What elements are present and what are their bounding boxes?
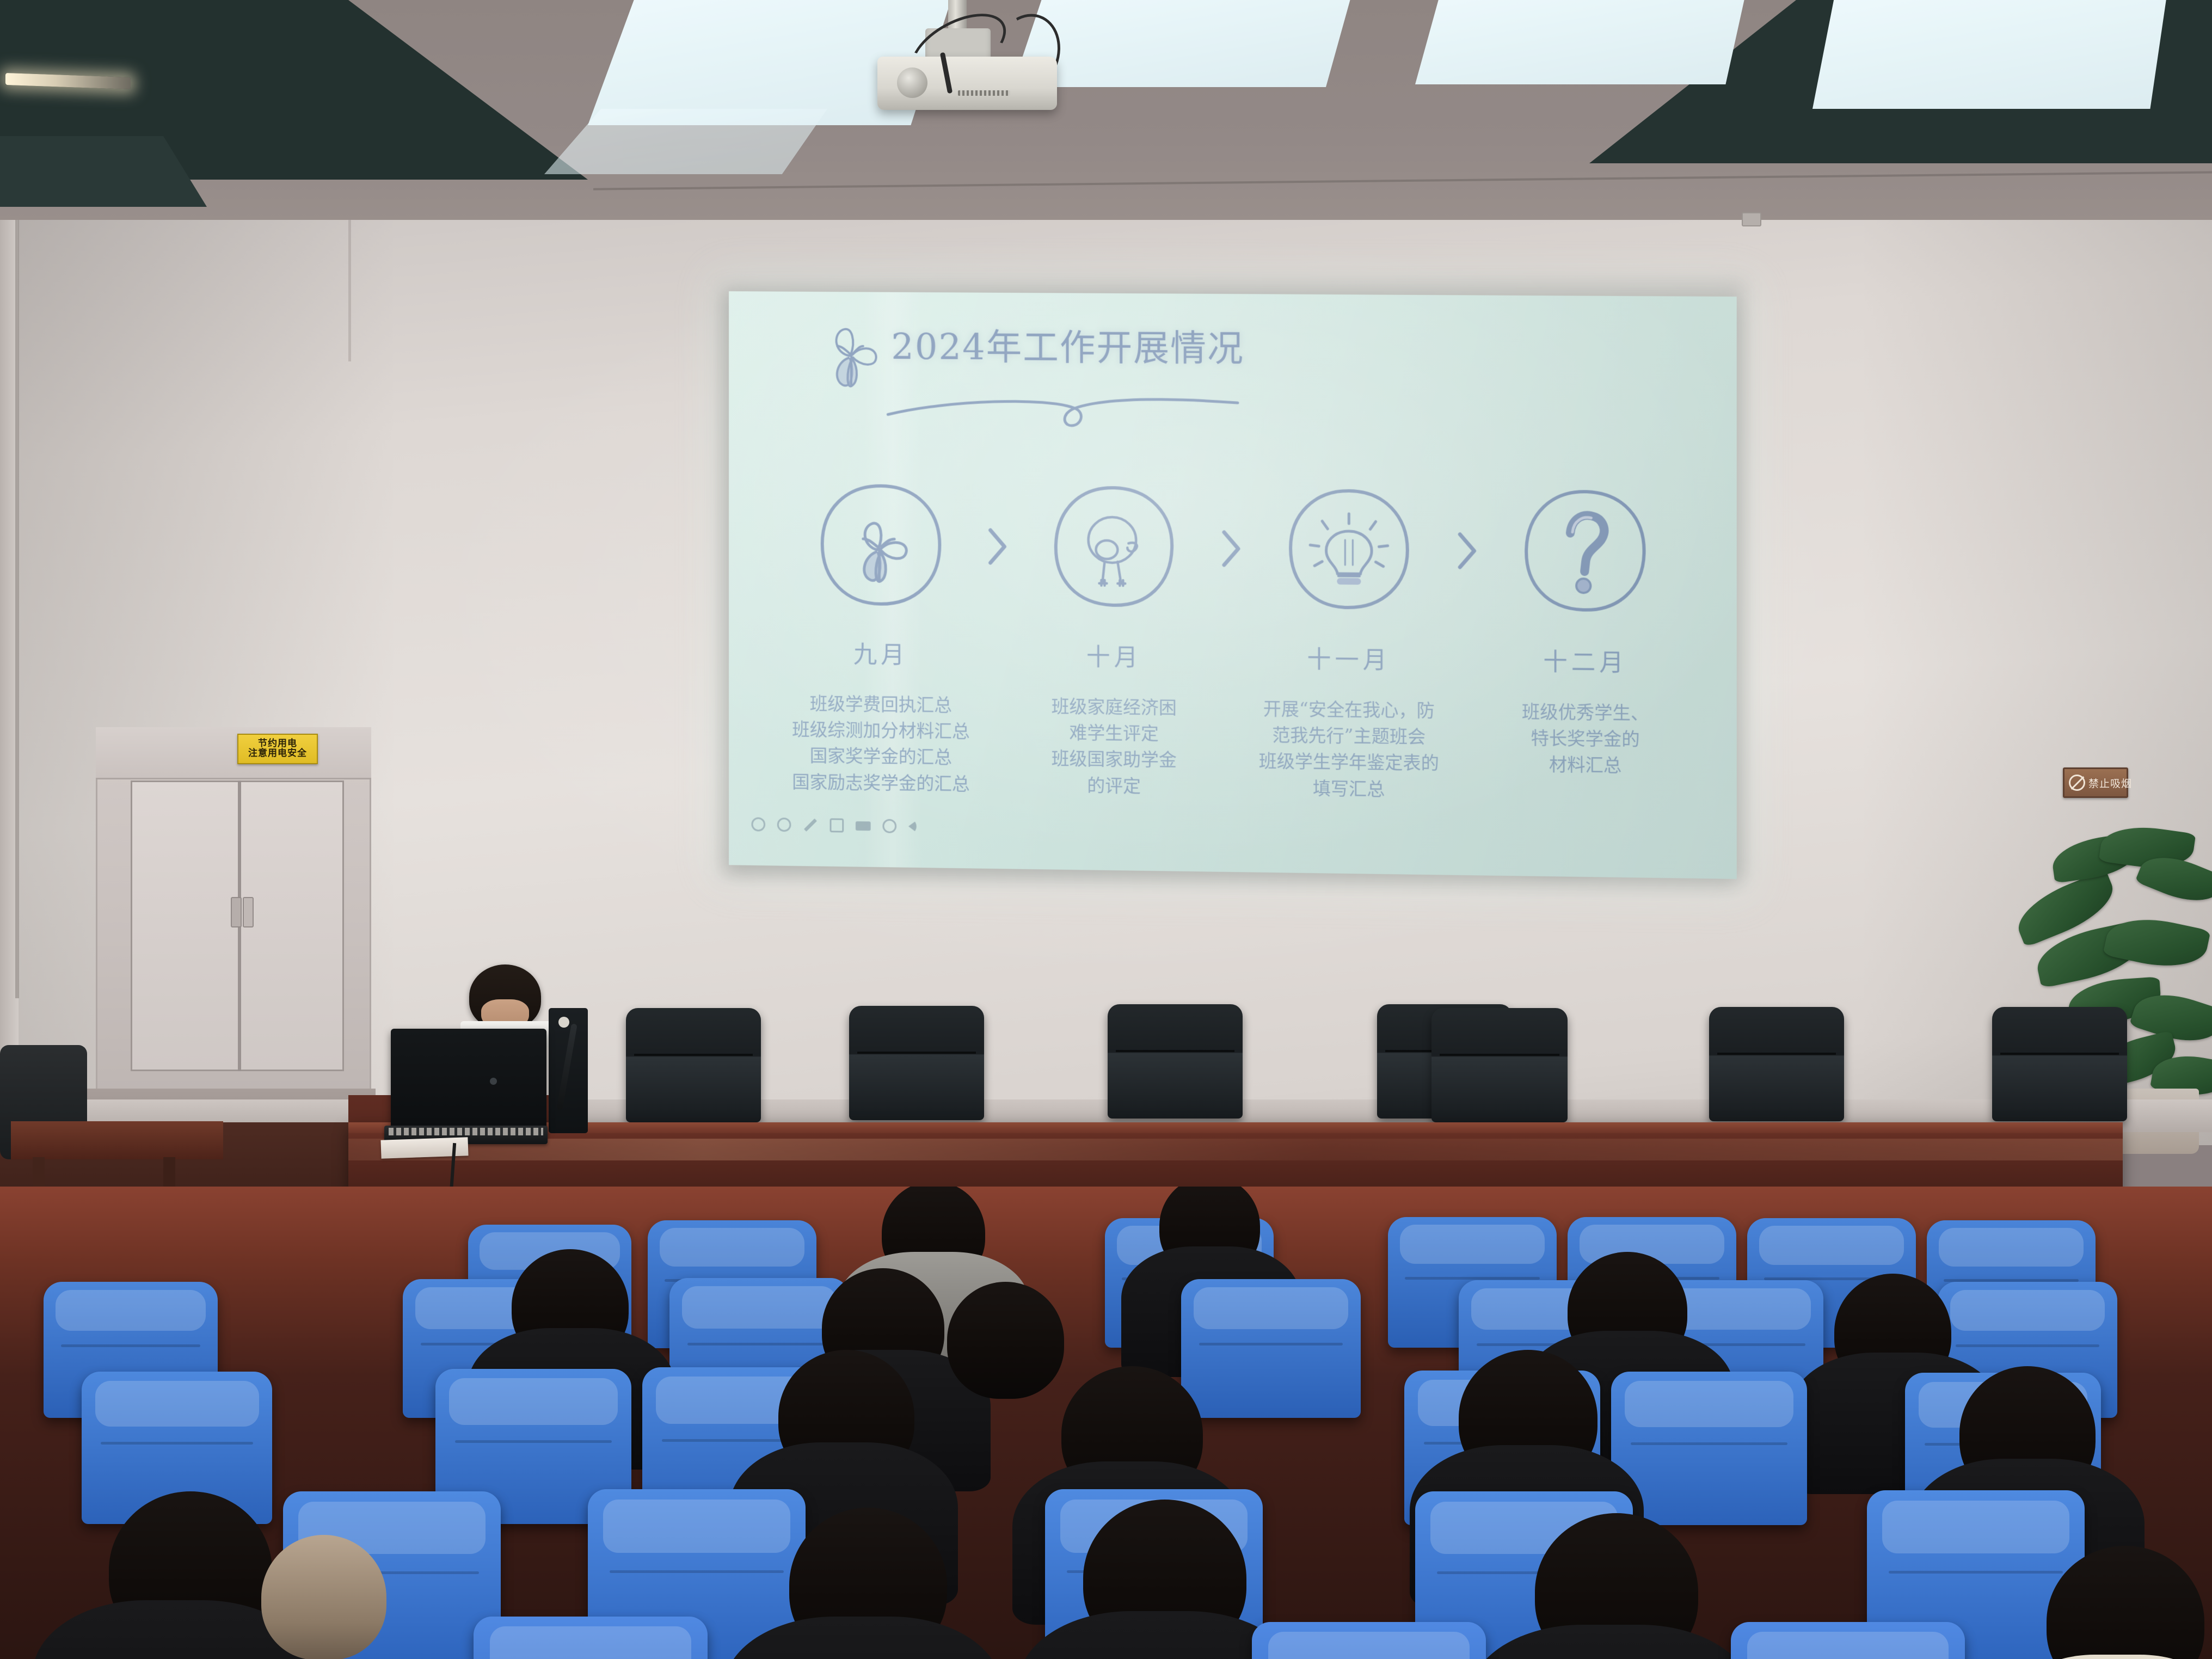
timeline-item: 填写汇总 [1259, 775, 1439, 803]
stage-chair[interactable] [1108, 1004, 1243, 1119]
slide-view-icon[interactable] [856, 821, 871, 830]
timeline-separator-2 [1208, 483, 1255, 615]
audience-seat[interactable] [1252, 1622, 1486, 1659]
timeline-item: 国家励志奖学金的汇总 [792, 769, 970, 797]
wall-outlet [1742, 212, 1761, 226]
monitor-power-indicator [490, 1078, 497, 1085]
head-table-sheen [348, 1139, 2123, 1160]
timeline-month-label: 九月 [853, 635, 908, 671]
wall-seam-line [348, 220, 351, 361]
timeline-month-label: 十月 [1086, 637, 1142, 673]
timeline-item: 范我先行”主题班会 [1259, 722, 1439, 751]
timeline-month-label: 十二月 [1543, 642, 1627, 678]
timeline-body-text: 开展“安全在我心，防 范我先行”主题班会 班级学生学年鉴定表的 填写汇总 [1259, 696, 1439, 803]
timeline-item: 班级学费回执汇总 [792, 691, 970, 719]
timeline-body-text: 班级家庭经济困 难学生评定 班级国家助学金 的评定 [1052, 693, 1177, 800]
stage-chair[interactable] [1431, 1008, 1568, 1122]
timeline-item: 开展“安全在我心，防 [1259, 696, 1439, 724]
timeline-circle [817, 480, 945, 610]
presentation-toolbar[interactable] [751, 816, 916, 834]
microphone-head [558, 1017, 569, 1028]
no-smoking-sign: 禁止吸烟 [2063, 767, 2128, 798]
audience-seat[interactable] [1181, 1279, 1361, 1418]
stage-chair[interactable] [849, 1006, 984, 1120]
timeline-item: 班级国家助学金 [1052, 746, 1177, 773]
timeline-circle [1284, 484, 1414, 615]
conference-room-photo: 2024年工作开展情况 [0, 0, 2212, 1659]
next-slide-icon[interactable] [777, 818, 791, 832]
timeline-circle [1520, 486, 1650, 617]
audience-seat[interactable] [474, 1617, 708, 1659]
stage-chair[interactable] [1992, 1007, 2127, 1121]
stage-chair[interactable] [626, 1008, 761, 1122]
audience-head [261, 1535, 386, 1659]
timeline-step[interactable]: 十二月 班级优秀学生、 特长奖学金的 材料汇总 [1490, 486, 1680, 780]
timeline-item: 材料汇总 [1522, 752, 1649, 779]
audience-head [947, 1282, 1064, 1399]
timeline-body-text: 班级优秀学生、 特长奖学金的 材料汇总 [1522, 699, 1649, 779]
head-table-top [348, 1122, 2123, 1133]
question-mark-icon [1570, 515, 1604, 593]
projector-vent [958, 90, 1010, 96]
timeline-circle [1049, 482, 1178, 612]
title-underline-flourish [884, 391, 1242, 433]
projection-screen[interactable]: 2024年工作开展情况 [729, 291, 1737, 879]
timeline-item: 特长奖学金的 [1522, 725, 1649, 753]
cabinet-handle[interactable] [243, 897, 254, 927]
no-smoking-icon [2069, 775, 2085, 791]
presenter-monitor[interactable] [391, 1029, 546, 1132]
timeline-separator-3 [1443, 485, 1491, 617]
no-smoking-label: 禁止吸烟 [2088, 776, 2132, 790]
pen-icon[interactable] [803, 818, 818, 833]
timeline-item: 班级学生学年鉴定表的 [1259, 748, 1439, 777]
ceiling-light-panel [1012, 0, 1361, 87]
butterfly-icon [825, 322, 884, 391]
butterfly-icon [863, 523, 907, 582]
timeline-item: 班级优秀学生、 [1522, 699, 1649, 727]
previous-slide-icon[interactable] [751, 817, 765, 831]
more-options-icon[interactable] [882, 819, 896, 833]
ceiling-light-panel [1812, 0, 2172, 109]
timeline-body-text: 班级学费回执汇总 班级综测加分材料汇总 国家奖学金的汇总 国家励志奖学金的汇总 [792, 691, 970, 797]
ceiling-light-panel [1415, 0, 1753, 84]
side-table [11, 1121, 223, 1159]
collapse-icon[interactable] [908, 820, 917, 832]
cabinet-handle[interactable] [231, 897, 242, 927]
slide-title: 2024年工作开展情况 [891, 329, 1244, 367]
cabinet-top-panel [96, 727, 371, 779]
timeline-step[interactable]: 十月 班级家庭经济困 难学生评定 班级国家助学金 的评定 [1021, 482, 1208, 800]
slide-timeline: 九月 班级学费回执汇总 班级综测加分材料汇总 国家奖学金的汇总 国家励志奖学金的… [788, 480, 1681, 806]
projector-lens [897, 67, 927, 98]
slide-header: 2024年工作开展情况 [825, 320, 1244, 393]
person-sketch-icon [1089, 517, 1137, 586]
timeline-separator-1 [974, 481, 1020, 612]
wall-corner-line [15, 220, 19, 998]
sign-line-2: 注意用电安全 [248, 749, 307, 759]
stage-chair[interactable] [1709, 1007, 1844, 1121]
timeline-step[interactable]: 十一月 开展“安全在我心，防 范我先行”主题班会 班级学生学年鉴定表的 填写汇总 [1255, 483, 1443, 803]
laser-pointer-icon[interactable] [830, 818, 844, 832]
timeline-item: 班级综测加分材料汇总 [792, 717, 970, 745]
timeline-step[interactable]: 九月 班级学费回执汇总 班级综测加分材料汇总 国家奖学金的汇总 国家励志奖学金的… [788, 480, 974, 797]
lightbulb-icon [1310, 513, 1387, 582]
audience-area [0, 1187, 2212, 1659]
timeline-item: 班级家庭经济困 [1052, 693, 1177, 721]
timeline-item: 的评定 [1052, 772, 1177, 800]
timeline-item: 国家奖学金的汇总 [792, 743, 970, 771]
keyboard-keys [389, 1128, 543, 1135]
timeline-month-label: 十一月 [1307, 640, 1391, 675]
timeline-item: 难学生评定 [1052, 720, 1177, 747]
electrical-safety-sign: 节约用电 注意用电安全 [237, 734, 318, 764]
audience-seat[interactable] [1731, 1622, 1965, 1659]
